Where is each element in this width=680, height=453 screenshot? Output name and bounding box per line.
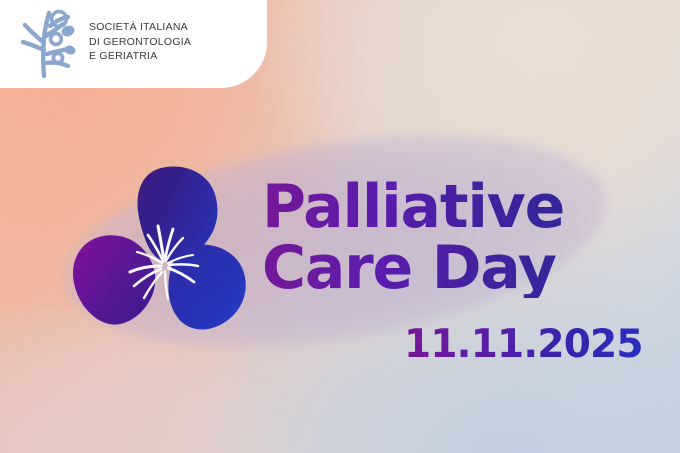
poster-canvas: Palliative Care Day 11.11.2025 [0, 0, 680, 453]
org-line-1: SOCIETÀ ITALIANA [89, 20, 191, 35]
org-line-2: DI GERONTOLOGIA [89, 35, 191, 50]
three-petal-violet-mark [68, 160, 256, 335]
headline-block: Palliative Care Day [262, 178, 662, 298]
sigg-figures-tree-mark [18, 6, 80, 78]
organization-name: SOCIETÀ ITALIANA DI GERONTOLOGIA E GERIA… [89, 20, 191, 65]
event-date: 11.11.2025 [404, 322, 643, 367]
headline-line-2: Care Day [262, 239, 662, 298]
org-line-3: E GERIATRIA [89, 49, 191, 64]
logo-lockup: SOCIETÀ ITALIANA DI GERONTOLOGIA E GERIA… [18, 6, 191, 78]
logo-card: SOCIETÀ ITALIANA DI GERONTOLOGIA E GERIA… [0, 0, 267, 88]
headline-line-1: Palliative [262, 178, 662, 237]
